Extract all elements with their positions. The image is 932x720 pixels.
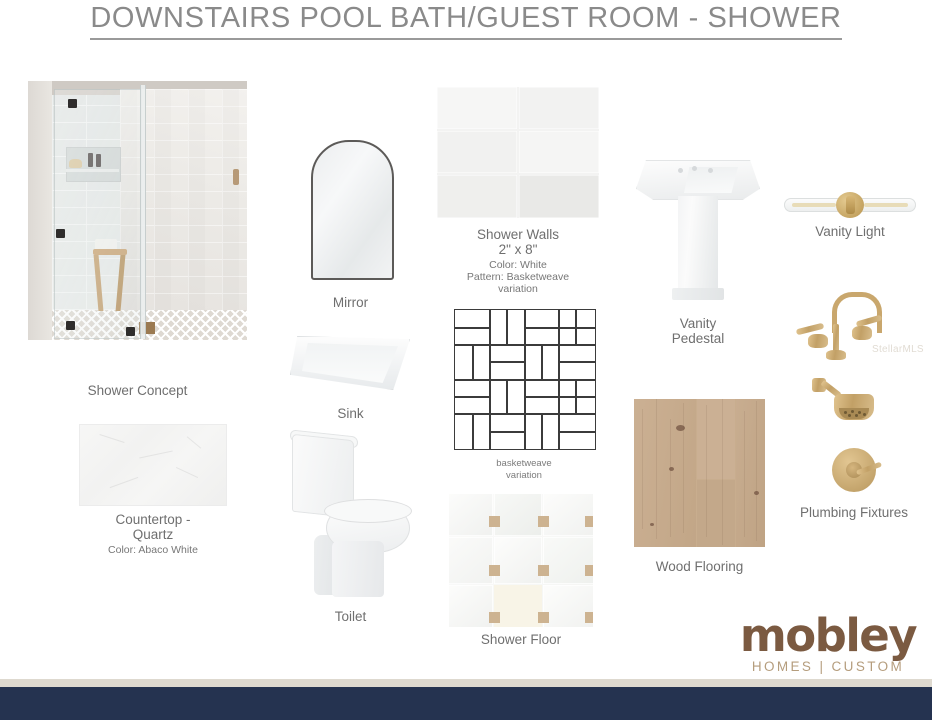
- faucet-base: [826, 350, 846, 360]
- faucet-handle-right-base: [852, 326, 872, 340]
- light-tube-left: [792, 203, 836, 207]
- door-hinge-middle: [56, 229, 65, 238]
- page-title: DOWNSTAIRS POOL BATH/GUEST ROOM - SHOWER: [90, 2, 841, 40]
- faucet-hole-right: [708, 168, 713, 173]
- pedestal-column: [678, 196, 718, 296]
- shower-floor-tile-sample: [449, 494, 593, 627]
- shower-walls-pattern: Pattern: Basketweave: [437, 271, 599, 283]
- toilet-label: Toilet: [281, 609, 420, 624]
- shower-walls-label: Shower Walls: [437, 227, 599, 242]
- door-clamp-bottom: [126, 327, 135, 336]
- mirror-label: Mirror: [281, 295, 420, 310]
- mirror-image: [311, 140, 394, 280]
- basketweave-label-line2: variation: [454, 470, 594, 481]
- basketweave-label-line1: basketweave: [454, 458, 594, 469]
- shower-walls-color: Color: White: [437, 259, 599, 271]
- design-board: DOWNSTAIRS POOL BATH/GUEST ROOM - SHOWER: [0, 0, 932, 720]
- faucet-hole-left: [678, 168, 683, 173]
- vanity-pedestal-label-line1: Vanity: [634, 316, 762, 331]
- plumbing-fixtures-label: Plumbing Fixtures: [775, 505, 932, 520]
- sink-label: Sink: [281, 406, 420, 421]
- door-hinge-bottom: [66, 321, 75, 330]
- vanity-pedestal-image: [634, 160, 762, 305]
- shower-concept-image: [28, 81, 247, 340]
- countertop-color-label: Color: Abaco White: [55, 544, 251, 556]
- vanity-light-label: Vanity Light: [784, 224, 916, 239]
- glass-shower-door: [54, 89, 142, 339]
- footer-accent-bar: [0, 679, 932, 687]
- shower-walls-size: 2" x 8": [437, 242, 599, 257]
- footer-navy-bar: [0, 687, 932, 720]
- page-title-container: DOWNSTAIRS POOL BATH/GUEST ROOM - SHOWER: [0, 2, 932, 40]
- toilet-seat: [324, 499, 412, 523]
- pedestal-foot: [672, 288, 724, 300]
- toilet-image: [288, 437, 412, 600]
- vanity-light-image: [784, 192, 916, 218]
- shower-head-face: [839, 408, 869, 419]
- countertop-label-line1: Countertop -: [55, 512, 251, 527]
- vanity-pedestal-label-line2: Pedestal: [634, 331, 762, 346]
- wood-flooring-label: Wood Flooring: [624, 559, 775, 574]
- countertop-quartz-swatch: [79, 424, 227, 506]
- shower-walls-pattern-variation: variation: [437, 283, 599, 295]
- basketweave-pattern-diagram: [454, 309, 596, 450]
- mobley-logo: mobley HOMES | CUSTOM: [733, 613, 923, 675]
- glass-side-panel: [140, 85, 146, 339]
- logo-wordmark: mobley: [733, 613, 923, 658]
- shower-concept-label: Shower Concept: [28, 383, 247, 398]
- wood-flooring-sample: [634, 399, 765, 547]
- shower-wall-tile-sample: [437, 87, 599, 218]
- stellarmls-watermark: StellarMLS: [872, 344, 928, 366]
- door-hinge-top: [68, 99, 77, 108]
- faucet-hole-center: [692, 166, 697, 171]
- toilet-base: [332, 541, 384, 597]
- vanity-light-hub-inner: [846, 196, 855, 214]
- countertop-label-line2: Quartz: [55, 527, 251, 542]
- shower-left-wall: [28, 81, 52, 340]
- shower-valve-handle: [233, 169, 239, 185]
- shower-floor-label: Shower Floor: [449, 632, 593, 647]
- sink-image: [290, 336, 410, 392]
- plumbing-fixtures-image: [790, 290, 918, 505]
- faucet-handle-left-base: [808, 334, 828, 348]
- logo-tagline: HOMES | CUSTOM: [733, 659, 923, 674]
- light-tube-right: [864, 203, 908, 207]
